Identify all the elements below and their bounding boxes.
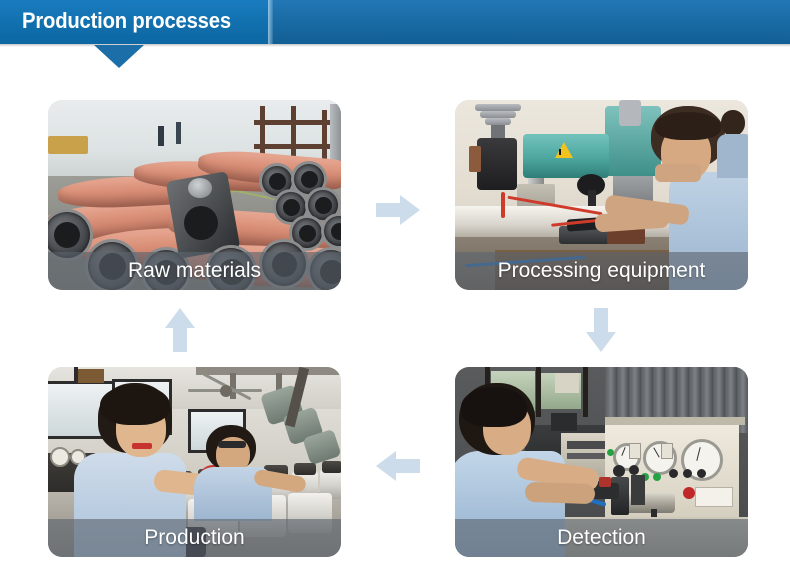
process-card-processing-equipment[interactable]: Processing equipment bbox=[455, 100, 748, 290]
card-caption-text: Detection bbox=[557, 526, 646, 550]
card-caption-text: Raw materials bbox=[128, 259, 261, 283]
arrow-up-left-icon bbox=[163, 308, 197, 352]
process-card-raw-materials[interactable]: Raw materials bbox=[48, 100, 341, 290]
card-caption-bar: Raw materials bbox=[48, 252, 341, 290]
card-caption-bar: Production bbox=[48, 519, 341, 557]
arrow-down-right-icon bbox=[584, 308, 618, 352]
header-pointer-triangle-icon bbox=[94, 45, 144, 68]
process-card-production[interactable]: Production bbox=[48, 367, 341, 557]
header-tab-edge-highlight bbox=[268, 0, 273, 44]
card-caption-text: Processing equipment bbox=[498, 259, 706, 283]
page-title: Production processes bbox=[22, 8, 231, 34]
process-card-detection[interactable]: Detection bbox=[455, 367, 748, 557]
card-caption-bar: Processing equipment bbox=[455, 252, 748, 290]
card-caption-bar: Detection bbox=[455, 519, 748, 557]
arrow-left-bottom-icon bbox=[376, 449, 420, 483]
card-caption-text: Production bbox=[144, 526, 244, 550]
page-header-band: Production processes bbox=[0, 0, 790, 44]
arrow-right-top-icon bbox=[376, 193, 420, 227]
